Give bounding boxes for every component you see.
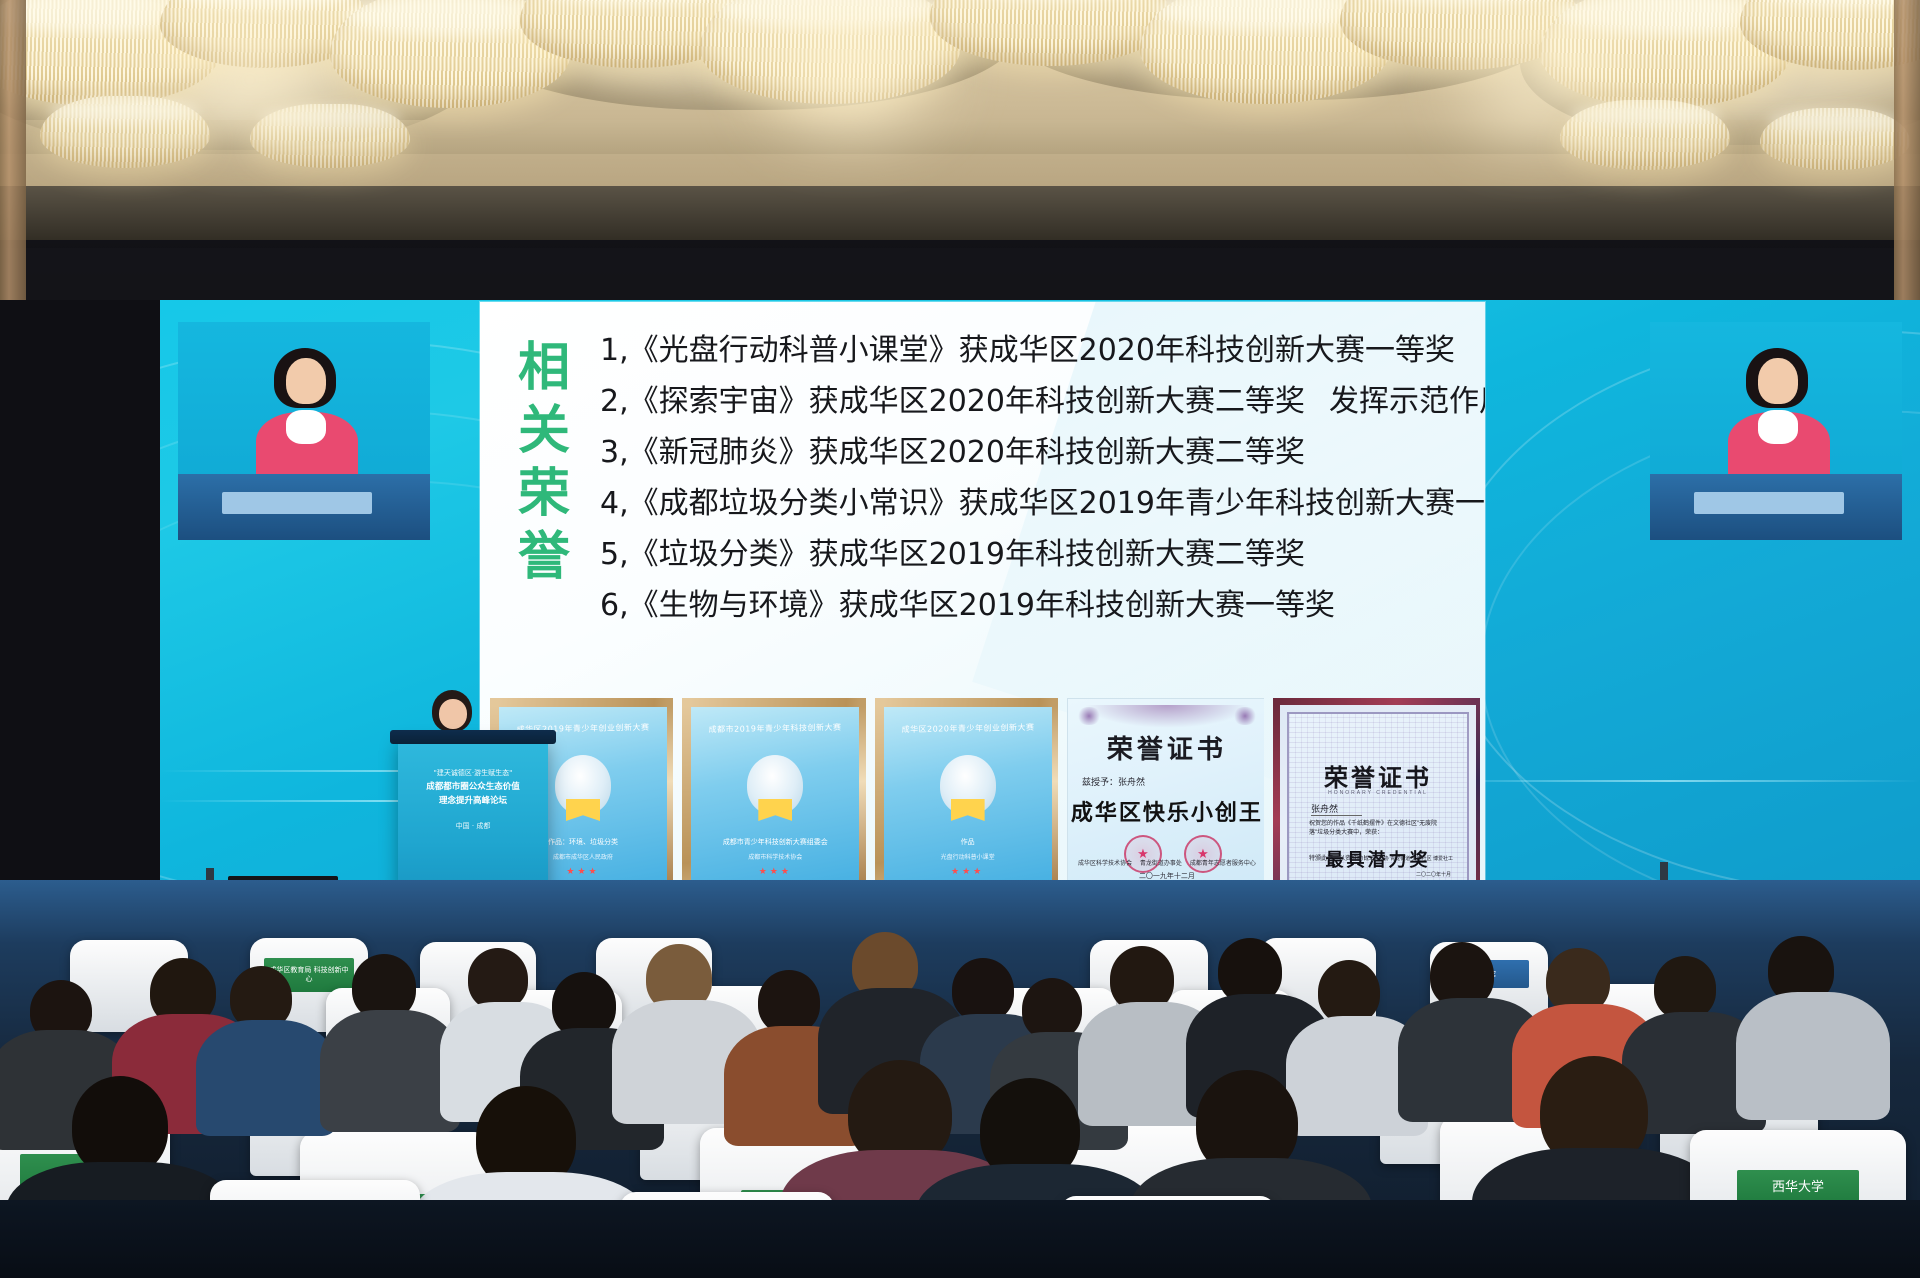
audience-torso bbox=[320, 1010, 460, 1132]
honor-title: 荣誉证书 bbox=[1068, 729, 1264, 766]
podium-top-edge bbox=[390, 730, 556, 744]
audience-torso bbox=[196, 1020, 336, 1136]
red-seal-icon: ★ bbox=[1184, 835, 1222, 873]
plaque-ribbon-icon bbox=[566, 799, 600, 821]
screenshot-root: 相 关 荣 誉 1,《光盘行动科普小课堂》获成华区2020年科技创新大赛一等奖 … bbox=[0, 0, 1920, 1278]
chandelier bbox=[160, 0, 370, 68]
framed-plaque: 成都市2019年青少年科技创新大赛 成都市青少年科技创新大赛组委会 成都市科学技… bbox=[682, 698, 865, 894]
audience-area: 成华区教育局 科技创新中心 嘉宾 成华区教育局 科技创新中心 成都理工大学 西华… bbox=[0, 880, 1920, 1278]
certificate-inner-border: 荣誉证书 HONORARY CREDENTIAL 张舟然 祝贺您的作品《千纸鹤摆… bbox=[1287, 712, 1469, 890]
audience-torso bbox=[1736, 992, 1890, 1120]
plaque-ribbon-icon bbox=[951, 799, 985, 821]
slide-bullet: 1,《光盘行动科普小课堂》获成华区2020年科技创新大赛一等奖 bbox=[600, 336, 1475, 366]
slide-bullet: 3,《新冠肺炎》获成华区2020年科技创新大赛二等奖 bbox=[600, 438, 1475, 468]
bullet-number: 4, bbox=[600, 486, 629, 521]
slide-bullet-list: 1,《光盘行动科普小课堂》获成华区2020年科技创新大赛一等奖 2,《探索宇宙》… bbox=[600, 336, 1475, 642]
plaque-ribbon-icon bbox=[758, 799, 792, 821]
certificate-item: 成都市2019年青少年科技创新大赛 成都市青少年科技创新大赛组委会 成都市科学技… bbox=[682, 698, 865, 894]
bullet-text: 《生物与环境》获成华区2019年科技创新大赛一等奖 bbox=[629, 588, 1335, 623]
red-seal-icon: ★ bbox=[1124, 835, 1162, 873]
honor-org-1: 成华区科学技术协会 bbox=[1078, 858, 1132, 867]
bullet-text: 《新冠肺炎》获成华区2020年科技创新大赛二等奖 bbox=[629, 435, 1305, 470]
slide-bullet: 5,《垃圾分类》获成华区2019年科技创新大赛二等奖 bbox=[600, 540, 1475, 570]
ceiling-bay bbox=[1520, 0, 1920, 145]
vtitle-char-1: 相 bbox=[508, 342, 580, 395]
bullet-text: 《垃圾分类》获成华区2019年科技创新大赛二等奖 bbox=[629, 537, 1305, 572]
podium-line-2: 成都都市圈公众生态价值 bbox=[406, 780, 540, 794]
chandelier bbox=[0, 0, 220, 106]
seat-tag: 成都大学 bbox=[1103, 1224, 1233, 1266]
bullet-text: 《成都垃圾分类小常识》获成华区2019年青少年科技创新大赛一等奖 bbox=[629, 486, 1485, 521]
certificate-item: 成华区2020年青少年创业创新大赛 作品 光盘行动科普小课堂 ★★★ bbox=[875, 698, 1058, 894]
wall-column-right bbox=[1894, 0, 1920, 320]
chandelier bbox=[1340, 0, 1580, 70]
vtitle-char-2: 关 bbox=[508, 405, 580, 458]
plaque-stars-icon: ★★★ bbox=[884, 866, 1052, 877]
speaker-head bbox=[286, 358, 326, 404]
audience-head bbox=[952, 958, 1014, 1022]
podium-line-1: "建天诚德区·游生赋生态" bbox=[406, 768, 540, 780]
honor-org-2: 青龙街道办事处 bbox=[1140, 858, 1182, 867]
presentation-slide: 相 关 荣 誉 1,《光盘行动科普小课堂》获成华区2020年科技创新大赛一等奖 … bbox=[480, 302, 1485, 900]
floral-ornament-icon bbox=[1074, 705, 1260, 731]
framed-plaque: 成华区2020年青少年创业创新大赛 作品 光盘行动科普小课堂 ★★★ bbox=[875, 698, 1058, 894]
ceiling-bay bbox=[460, 0, 1020, 110]
chandelier bbox=[1760, 108, 1910, 170]
honor-org-3: 成都青年志愿者服务中心 bbox=[1190, 858, 1256, 867]
bullet-number: 5, bbox=[600, 537, 629, 572]
led-glow-line bbox=[1420, 780, 1920, 782]
chandelier bbox=[1560, 100, 1730, 170]
bullet-number: 3, bbox=[600, 435, 629, 470]
plaque-title: 成华区2020年青少年创业创新大赛 bbox=[884, 722, 1052, 736]
plaque-subtitle: 成都市青少年科技创新大赛组委会 bbox=[691, 837, 859, 847]
speaker-face bbox=[439, 699, 467, 729]
plaque-subtitle: 作品 bbox=[884, 837, 1052, 847]
feed-nameplate bbox=[222, 492, 372, 514]
chair-front: 嘉宾 bbox=[620, 1192, 834, 1278]
seat-tag: 嘉宾 bbox=[666, 1222, 788, 1260]
formal-recipient: 张舟然 bbox=[1311, 802, 1362, 816]
honor-grant-line: 兹授予：张舟然 bbox=[1082, 775, 1145, 788]
chandelier bbox=[930, 0, 1170, 66]
speaker-collar bbox=[1758, 410, 1798, 444]
ceiling-bay bbox=[0, 0, 480, 150]
bullet-text: 《探索宇宙》获成华区2020年科技创新大赛二等奖 bbox=[629, 384, 1305, 419]
speaker-head bbox=[1758, 358, 1798, 404]
chandelier bbox=[520, 0, 750, 68]
plaque-org: 成都市科学技术协会 bbox=[691, 852, 859, 861]
slide-vertical-title: 相 关 荣 誉 bbox=[508, 342, 580, 594]
bullet-number: 1, bbox=[600, 333, 629, 368]
ceiling-shadow bbox=[0, 186, 1920, 250]
bullet-text: 《光盘行动科普小课堂》获成华区2020年科技创新大赛一等奖 bbox=[629, 333, 1455, 368]
plaque-title: 成都市2019年青少年科技创新大赛 bbox=[691, 722, 859, 736]
formal-body: 祝贺您的作品《千纸鹤摆件》在文德社区"无废院落"垃圾分类大赛中，荣获： bbox=[1309, 820, 1451, 838]
audience-head-front bbox=[72, 1076, 168, 1176]
bullet-number: 6, bbox=[600, 588, 629, 623]
ceiling-glow bbox=[1400, 6, 1680, 156]
chair-front: 电子科技大学 bbox=[210, 1180, 420, 1278]
vtitle-char-4: 誉 bbox=[508, 531, 580, 584]
seat-tag: 西华大学 bbox=[1737, 1170, 1859, 1206]
formal-certificate: 荣誉证书 HONORARY CREDENTIAL 张舟然 祝贺您的作品《千纸鹤摆… bbox=[1273, 698, 1480, 894]
honor-certificate: 荣誉证书 兹授予：张舟然 成华区快乐小创王 ★ ★ 成华区科学技术协会 青龙街道… bbox=[1067, 698, 1264, 890]
plaque-stars-icon: ★★★ bbox=[691, 866, 859, 877]
formal-note: 特颁此证，以资鼓励！ bbox=[1309, 853, 1369, 862]
audience-head bbox=[758, 970, 820, 1034]
bullet-number: 2, bbox=[600, 384, 629, 419]
audience-torso-front bbox=[6, 1162, 236, 1278]
podium-line-3: 理念提升高峰论坛 bbox=[406, 794, 540, 808]
formal-signature: 成华区科协 青龙街道 文德社区 博爱社工 bbox=[1364, 855, 1453, 862]
video-feed-left bbox=[178, 322, 430, 540]
plaque-org: 光盘行动科普小课堂 bbox=[884, 852, 1052, 861]
speaker-collar bbox=[286, 410, 326, 444]
honor-award-name: 成华区快乐小创王 bbox=[1068, 795, 1264, 827]
chandelier bbox=[1740, 0, 1920, 70]
chandelier bbox=[700, 0, 960, 104]
chair-front: 西华大学 bbox=[1690, 1130, 1906, 1270]
seat-tag: 电子科技大学 bbox=[248, 1208, 382, 1252]
audience-torso-front bbox=[412, 1172, 648, 1278]
podium-line-4: 中国 · 成都 bbox=[406, 821, 540, 833]
bullet-note: 发挥示范作用 bbox=[1329, 384, 1485, 419]
chandelier bbox=[330, 0, 570, 108]
feed-nameplate bbox=[1694, 492, 1844, 514]
audience-head bbox=[1654, 956, 1716, 1020]
video-feed-right bbox=[1650, 322, 1902, 540]
vtitle-char-3: 荣 bbox=[508, 468, 580, 521]
chair-front: 成都大学 bbox=[1060, 1196, 1276, 1278]
formal-title: 荣誉证书 bbox=[1289, 758, 1467, 793]
ceiling-glow bbox=[700, 0, 1000, 150]
slide-bullet: 6,《生物与环境》获成华区2019年科技创新大赛一等奖 bbox=[600, 591, 1475, 621]
chandelier bbox=[40, 96, 210, 168]
audience-head bbox=[1318, 960, 1380, 1024]
ceiling-band bbox=[0, 120, 1920, 154]
ceiling-bay bbox=[1000, 0, 1560, 100]
certificate-item: 荣誉证书 HONORARY CREDENTIAL 张舟然 祝贺您的作品《千纸鹤摆… bbox=[1273, 698, 1480, 894]
audience-torso-front bbox=[1472, 1148, 1722, 1278]
ceiling-glow bbox=[120, 10, 380, 150]
chandelier bbox=[1140, 0, 1390, 104]
honor-footer: 成华区科学技术协会 青龙街道办事处 成都青年志愿者服务中心 bbox=[1078, 858, 1256, 867]
chandelier bbox=[1540, 0, 1790, 108]
slide-bullet: 2,《探索宇宙》获成华区2020年科技创新大赛二等奖发挥示范作用 bbox=[600, 387, 1475, 417]
certificate-item: 荣誉证书 兹授予：张舟然 成华区快乐小创王 ★ ★ 成华区科学技术协会 青龙街道… bbox=[1067, 698, 1264, 894]
ceiling bbox=[0, 0, 1920, 250]
podium-sign: "建天诚德区·游生赋生态" 成都都市圈公众生态价值 理念提升高峰论坛 中国 · … bbox=[406, 768, 540, 833]
formal-title-en: HONORARY CREDENTIAL bbox=[1289, 790, 1467, 796]
audience-head bbox=[1022, 978, 1082, 1040]
certificate-strip: 成华区2019年青少年创业创新大赛 作品：环境、垃圾分类 成都市成华区人民政府 … bbox=[490, 694, 1480, 894]
formal-date: 二〇二〇年十月 bbox=[1416, 871, 1451, 878]
slide-bullet: 4,《成都垃圾分类小常识》获成华区2019年青少年科技创新大赛一等奖 bbox=[600, 489, 1475, 519]
chandelier bbox=[250, 104, 410, 168]
wall-column-left bbox=[0, 0, 26, 320]
stage-wall-left bbox=[0, 300, 160, 940]
audience-head bbox=[468, 948, 528, 1010]
